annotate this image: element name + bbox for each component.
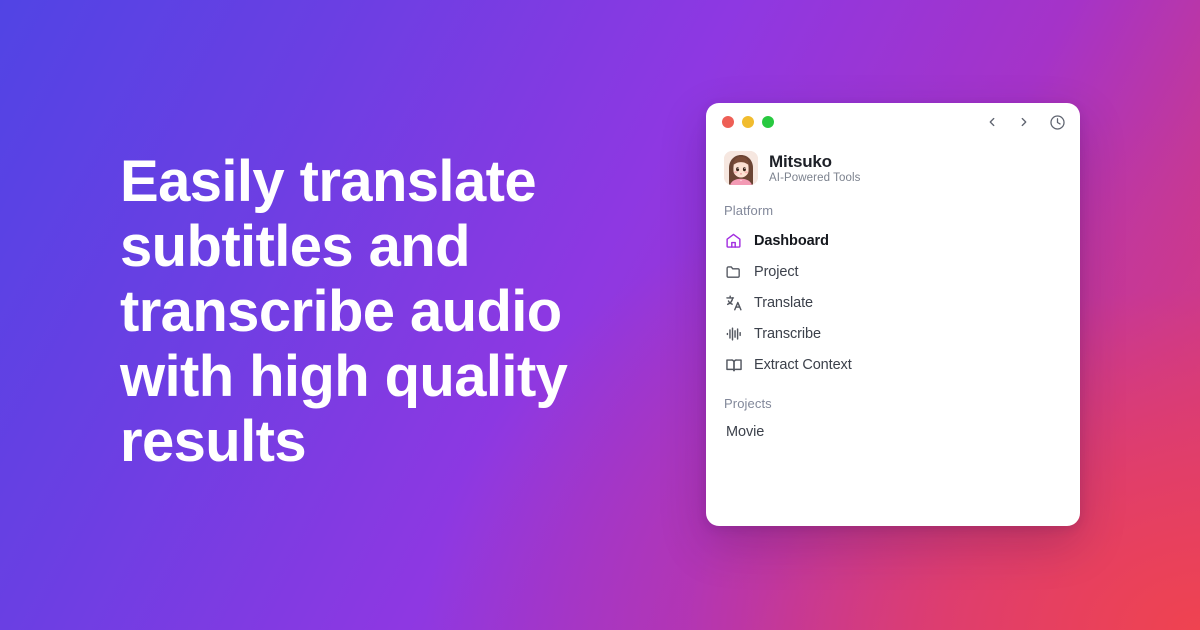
chevron-right-icon[interactable] <box>1017 115 1031 129</box>
user-avatar-anime-icon <box>724 151 758 185</box>
sidebar-item-label: Project <box>754 264 798 280</box>
folder-icon <box>724 262 743 281</box>
home-icon <box>724 231 743 250</box>
app-window: Mitsuko AI-Powered Tools Platform Dashbo… <box>706 103 1080 526</box>
sidebar-item-translate[interactable]: Translate <box>718 287 1068 318</box>
sidebar-item-label: Dashboard <box>754 233 829 249</box>
languages-icon <box>724 293 743 312</box>
clock-history-icon[interactable] <box>1049 114 1066 131</box>
maximize-button[interactable] <box>762 116 774 128</box>
page-title: Easily translate subtitles and transcrib… <box>120 150 620 475</box>
profile-subtitle: AI-Powered Tools <box>769 172 861 184</box>
window-titlebar <box>706 103 1080 141</box>
sidebar-nav: Platform Dashboard Project Translate Tra… <box>706 189 1080 446</box>
traffic-light-group <box>722 116 774 128</box>
sidebar-item-transcribe[interactable]: Transcribe <box>718 318 1068 349</box>
sidebar-item-extract-context[interactable]: Extract Context <box>718 349 1068 380</box>
minimize-button[interactable] <box>742 116 754 128</box>
profile-row[interactable]: Mitsuko AI-Powered Tools <box>706 141 1080 189</box>
sidebar-item-movie[interactable]: Movie <box>718 418 1068 446</box>
profile-name: Mitsuko <box>769 152 861 172</box>
sidebar-item-project[interactable]: Project <box>718 256 1068 287</box>
chevron-left-icon[interactable] <box>985 115 999 129</box>
profile-text: Mitsuko AI-Powered Tools <box>769 152 861 185</box>
section-label-platform: Platform <box>718 203 1068 225</box>
sidebar-item-label: Transcribe <box>754 326 821 342</box>
sidebar-item-label: Extract Context <box>754 357 852 373</box>
waveform-icon <box>724 324 743 343</box>
section-label-projects: Projects <box>718 380 1068 418</box>
avatar <box>724 151 758 185</box>
sidebar-item-label: Translate <box>754 295 813 311</box>
book-open-icon <box>724 355 743 374</box>
window-nav-controls <box>985 114 1066 131</box>
sidebar-item-dashboard[interactable]: Dashboard <box>718 225 1068 256</box>
close-button[interactable] <box>722 116 734 128</box>
